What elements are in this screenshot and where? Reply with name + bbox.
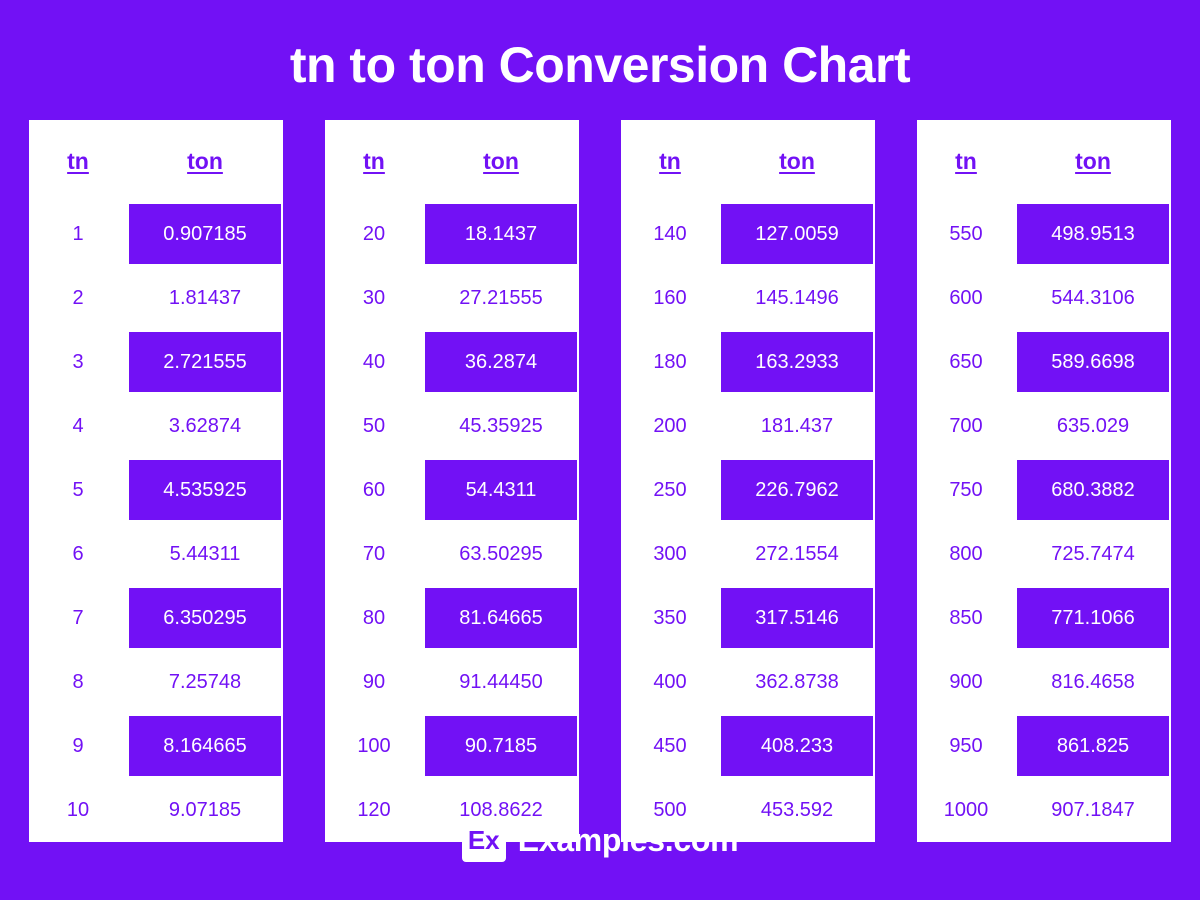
cell-ton: 816.4658 [1015, 650, 1171, 714]
column-header-tn-label: tn [659, 148, 681, 174]
cell-tn: 250 [621, 458, 719, 522]
cell-ton: 226.7962 [719, 458, 875, 522]
cell-tn: 600 [917, 266, 1015, 330]
table-row: 21.81437 [29, 266, 283, 330]
cell-ton: 163.2933 [719, 330, 875, 394]
table-header-row: tnton [621, 120, 875, 202]
footer-branding: Ex Examples.com [0, 818, 1200, 862]
column-header-tn: tn [29, 120, 127, 202]
cell-tn: 60 [325, 458, 423, 522]
column-header-ton: ton [719, 120, 875, 202]
column-header-tn-label: tn [363, 148, 385, 174]
cell-tn: 300 [621, 522, 719, 586]
cell-ton: 272.1554 [719, 522, 875, 586]
table-row: 140127.0059 [621, 202, 875, 266]
cell-tn: 850 [917, 586, 1015, 650]
cell-tn: 100 [325, 714, 423, 778]
table-row: 350317.5146 [621, 586, 875, 650]
cell-ton: 27.21555 [423, 266, 579, 330]
examples-logo-icon: Ex [462, 818, 506, 862]
cell-ton: 45.35925 [423, 394, 579, 458]
cell-ton: 635.029 [1015, 394, 1171, 458]
cell-ton: 81.64665 [423, 586, 579, 650]
table-row: 400362.8738 [621, 650, 875, 714]
conversion-table: tnton140127.0059160145.1496180163.293320… [621, 120, 875, 842]
column-header-tn-label: tn [955, 148, 977, 174]
cell-ton: 771.1066 [1015, 586, 1171, 650]
column-header-ton: ton [1015, 120, 1171, 202]
column-header-tn: tn [621, 120, 719, 202]
cell-tn: 80 [325, 586, 423, 650]
cell-ton: 2.721555 [127, 330, 283, 394]
cell-ton: 5.44311 [127, 522, 283, 586]
cell-ton: 317.5146 [719, 586, 875, 650]
cell-tn: 180 [621, 330, 719, 394]
cell-ton: 408.233 [719, 714, 875, 778]
cell-ton: 725.7474 [1015, 522, 1171, 586]
table-header-row: tnton [29, 120, 283, 202]
table-row: 700635.029 [917, 394, 1171, 458]
table-row: 7063.50295 [325, 522, 579, 586]
page-title: tn to ton Conversion Chart [0, 0, 1200, 93]
column-header-tn: tn [917, 120, 1015, 202]
table-row: 5045.35925 [325, 394, 579, 458]
table-row: 6054.4311 [325, 458, 579, 522]
cell-ton: 6.350295 [127, 586, 283, 650]
cell-ton: 362.8738 [719, 650, 875, 714]
cell-tn: 800 [917, 522, 1015, 586]
table-row: 160145.1496 [621, 266, 875, 330]
brand-name: Examples.com [518, 822, 739, 859]
column-header-ton: ton [127, 120, 283, 202]
cell-ton: 544.3106 [1015, 266, 1171, 330]
conversion-table: tnton10.90718521.8143732.72155543.628745… [29, 120, 283, 842]
conversion-table: tnton550498.9513600544.3106650589.669870… [917, 120, 1171, 842]
cell-tn: 350 [621, 586, 719, 650]
cell-tn: 200 [621, 394, 719, 458]
cell-ton: 861.825 [1015, 714, 1171, 778]
cell-tn: 550 [917, 202, 1015, 266]
table-row: 32.721555 [29, 330, 283, 394]
table-row: 76.350295 [29, 586, 283, 650]
column-header-tn-label: tn [67, 148, 89, 174]
table-row: 850771.1066 [917, 586, 1171, 650]
cell-tn: 950 [917, 714, 1015, 778]
cell-tn: 4 [29, 394, 127, 458]
cell-tn: 50 [325, 394, 423, 458]
table-row: 10090.7185 [325, 714, 579, 778]
table-row: 180163.2933 [621, 330, 875, 394]
table-row: 2018.1437 [325, 202, 579, 266]
table-row: 9091.44450 [325, 650, 579, 714]
cell-ton: 7.25748 [127, 650, 283, 714]
cell-ton: 680.3882 [1015, 458, 1171, 522]
table-row: 300272.1554 [621, 522, 875, 586]
cell-ton: 498.9513 [1015, 202, 1171, 266]
cell-ton: 181.437 [719, 394, 875, 458]
table-row: 550498.9513 [917, 202, 1171, 266]
column-header-ton-label: ton [779, 148, 815, 174]
cell-ton: 127.0059 [719, 202, 875, 266]
cell-ton: 36.2874 [423, 330, 579, 394]
cell-tn: 700 [917, 394, 1015, 458]
cell-tn: 9 [29, 714, 127, 778]
table-header-row: tnton [917, 120, 1171, 202]
cell-tn: 7 [29, 586, 127, 650]
tables-container: tnton10.90718521.8143732.72155543.628745… [0, 120, 1200, 842]
table-row: 98.164665 [29, 714, 283, 778]
cell-ton: 90.7185 [423, 714, 579, 778]
table-row: 650589.6698 [917, 330, 1171, 394]
table-row: 4036.2874 [325, 330, 579, 394]
cell-ton: 63.50295 [423, 522, 579, 586]
column-header-ton-label: ton [187, 148, 223, 174]
cell-ton: 4.535925 [127, 458, 283, 522]
cell-tn: 2 [29, 266, 127, 330]
column-header-ton-label: ton [483, 148, 519, 174]
cell-tn: 450 [621, 714, 719, 778]
cell-ton: 0.907185 [127, 202, 283, 266]
table-row: 750680.3882 [917, 458, 1171, 522]
cell-tn: 40 [325, 330, 423, 394]
cell-tn: 1 [29, 202, 127, 266]
cell-ton: 589.6698 [1015, 330, 1171, 394]
cell-tn: 70 [325, 522, 423, 586]
table-row: 10.907185 [29, 202, 283, 266]
cell-tn: 160 [621, 266, 719, 330]
cell-tn: 30 [325, 266, 423, 330]
table-row: 43.62874 [29, 394, 283, 458]
cell-tn: 8 [29, 650, 127, 714]
table-row: 65.44311 [29, 522, 283, 586]
cell-tn: 3 [29, 330, 127, 394]
column-header-tn: tn [325, 120, 423, 202]
cell-ton: 1.81437 [127, 266, 283, 330]
table-header-row: tnton [325, 120, 579, 202]
conversion-table: tnton2018.14373027.215554036.28745045.35… [325, 120, 579, 842]
table-row: 600544.3106 [917, 266, 1171, 330]
cell-tn: 90 [325, 650, 423, 714]
table-row: 950861.825 [917, 714, 1171, 778]
cell-ton: 8.164665 [127, 714, 283, 778]
table-row: 87.25748 [29, 650, 283, 714]
cell-tn: 900 [917, 650, 1015, 714]
cell-ton: 54.4311 [423, 458, 579, 522]
table-row: 250226.7962 [621, 458, 875, 522]
cell-tn: 400 [621, 650, 719, 714]
column-header-ton-label: ton [1075, 148, 1111, 174]
cell-tn: 20 [325, 202, 423, 266]
conversion-chart-page: tn to ton Conversion Chart tnton10.90718… [0, 0, 1200, 900]
table-row: 54.535925 [29, 458, 283, 522]
cell-tn: 650 [917, 330, 1015, 394]
cell-tn: 750 [917, 458, 1015, 522]
cell-tn: 5 [29, 458, 127, 522]
cell-ton: 91.44450 [423, 650, 579, 714]
table-row: 200181.437 [621, 394, 875, 458]
table-row: 8081.64665 [325, 586, 579, 650]
table-row: 3027.21555 [325, 266, 579, 330]
cell-tn: 140 [621, 202, 719, 266]
table-row: 900816.4658 [917, 650, 1171, 714]
table-row: 450408.233 [621, 714, 875, 778]
column-header-ton: ton [423, 120, 579, 202]
cell-ton: 18.1437 [423, 202, 579, 266]
table-row: 800725.7474 [917, 522, 1171, 586]
cell-ton: 3.62874 [127, 394, 283, 458]
cell-ton: 145.1496 [719, 266, 875, 330]
cell-tn: 6 [29, 522, 127, 586]
